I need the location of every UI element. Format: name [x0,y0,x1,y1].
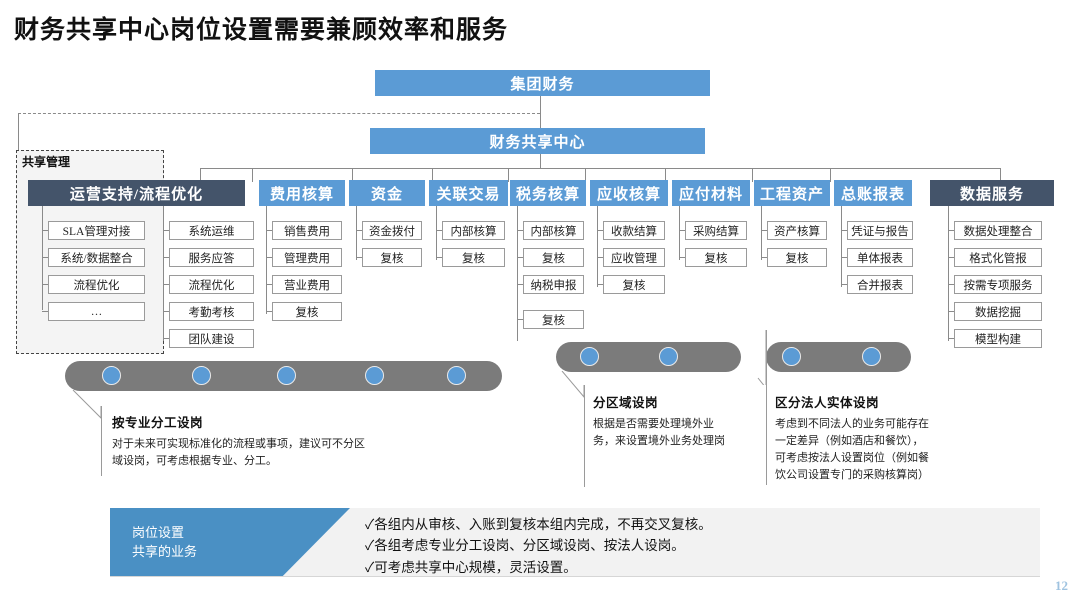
leaf-ellipsis[interactable]: … [48,302,145,321]
leaf-procurement-settlement[interactable]: 采购结算 [685,221,747,240]
tick-c10-5 [948,338,954,339]
tick-c10-4 [948,311,954,312]
connector-drop-2 [252,168,253,182]
column-header-related-party[interactable]: 关联交易 [429,180,508,206]
leaf-asset-accounting[interactable]: 资产核算 [767,221,827,240]
connector-root-to-level2 [540,96,541,128]
leaf-operating-expense[interactable]: 营业费用 [272,275,342,294]
tick-c1l-3 [42,284,48,285]
tick-c3-1 [356,230,362,231]
column-header-receivables[interactable]: 应收核算 [590,180,668,206]
callout-leader-3 [742,330,792,385]
tick-c8-1 [761,230,767,231]
pill-dot-3-2 [862,347,881,366]
leaf-voucher-report[interactable]: 凭证与报告 [847,221,913,240]
shared-management-group-label: 共享管理 [22,153,70,170]
spine-col9 [841,206,842,287]
node-group-finance[interactable]: 集团财务 [375,70,710,96]
tick-c4-2 [436,257,442,258]
tick-c1r-2 [163,257,169,258]
spine-col7 [679,206,680,260]
leaf-team-building[interactable]: 团队建设 [169,329,254,348]
tick-c6-2 [597,257,603,258]
leaf-internal-accounting-rp[interactable]: 内部核算 [442,221,505,240]
leaf-process-optimization[interactable]: 流程优化 [169,275,254,294]
column-header-treasury[interactable]: 资金 [349,180,425,206]
pill-dot-1-3 [277,366,296,385]
callout-rule-2 [584,385,585,487]
callout-title-2: 分区域设岗 [593,392,735,411]
summary-bullet-list: ✓各组内从审核、入账到复核本组内完成，不再交叉复核。 ✓各组考虑专业分工设岗、分… [365,514,1030,578]
summary-banner-rule [110,576,1040,577]
leaf-data-processing-integration[interactable]: 数据处理整合 [954,221,1042,240]
spine-col1-right [163,206,164,341]
leaf-admin-expense[interactable]: 管理费用 [272,248,342,267]
tick-c9-1 [841,230,847,231]
pill-dot-1-5 [447,366,466,385]
tick-c6-1 [597,230,603,231]
leaf-tax-review-2[interactable]: 复核 [523,310,584,329]
leaf-system-data-integration[interactable]: 系统/数据整合 [48,248,145,267]
leaf-tax-filing[interactable]: 纳税申报 [523,275,584,294]
tick-c7-1 [679,230,685,231]
leaf-system-ops[interactable]: 系统运维 [169,221,254,240]
column-header-expense-accounting[interactable]: 费用核算 [259,180,345,206]
leaf-sla-management[interactable]: SLA管理对接 [48,221,145,240]
pill-dot-2-2 [659,347,678,366]
summary-bullet-3: ✓可考虑共享中心规模，灵活设置。 [365,557,1030,578]
column-header-payables-materials[interactable]: 应付材料 [672,180,750,206]
summary-banner: 岗位设置 共享的业务 ✓各组内从审核、入账到复核本组内完成，不再交叉复核。 ✓各… [110,508,1040,576]
slide-canvas: 财务共享中心岗位设置需要兼顾效率和服务 共享管理 集团财务 财务共享中心 运营支… [0,0,1080,598]
tick-c2-1 [266,230,272,231]
connector-drop-9 [830,168,831,182]
pill-dot-1-2 [192,366,211,385]
tick-c9-3 [841,284,847,285]
leaf-fund-disbursement[interactable]: 资金拨付 [362,221,422,240]
leaf-standalone-statement[interactable]: 单体报表 [847,248,913,267]
tick-c7-2 [679,257,685,258]
leaf-on-demand-services[interactable]: 按需专项服务 [954,275,1042,294]
tick-c10-1 [948,230,954,231]
spine-col10 [948,206,949,341]
tick-c10-2 [948,257,954,258]
tick-c1l-1 [42,230,48,231]
leaf-expense-review[interactable]: 复核 [272,302,342,321]
spine-col2 [266,206,267,314]
leaf-tax-review-1[interactable]: 复核 [523,248,584,267]
column-header-gl-reporting[interactable]: 总账报表 [834,180,912,206]
tick-c3-2 [356,257,362,258]
connector-level2-drop [540,154,541,168]
spine-col6 [597,206,598,287]
connector-dashed-left [18,113,540,114]
pill-dot-1-4 [365,366,384,385]
spine-col3 [356,206,357,260]
callout-rule-3 [766,330,767,485]
tick-c5-1 [517,230,523,231]
tick-c5-4 [517,319,523,320]
summary-bullet-2: ✓各组考虑专业分工设岗、分区域设岗、按法人设岗。 [365,535,1030,556]
tick-c5-3 [517,284,523,285]
leaf-related-party-review[interactable]: 复核 [442,248,505,267]
tick-c4-1 [436,230,442,231]
leaf-sales-expense[interactable]: 销售费用 [272,221,342,240]
leaf-process-optimization-left[interactable]: 流程优化 [48,275,145,294]
summary-tag-line1: 岗位设置 [132,523,350,543]
summary-bullet-1: ✓各组内从审核、入账到复核本组内完成，不再交叉复核。 [365,514,1030,535]
page-number: 12 [1055,578,1068,594]
leaf-receivables-management[interactable]: 应收管理 [603,248,665,267]
callout-body-2: 根据是否需要处理境外业务，来设置境外业务处理岗 [593,416,735,450]
tick-c2-2 [266,257,272,258]
column-header-operations-support[interactable]: 运营支持/流程优化 [28,180,245,206]
callout-regional-division: 分区域设岗 根据是否需要处理境外业务，来设置境外业务处理岗 [593,392,735,450]
page-title: 财务共享中心岗位设置需要兼顾效率和服务 [14,10,508,46]
callout-title-3: 区分法人实体设岗 [775,392,930,411]
leaf-service-response[interactable]: 服务应答 [169,248,254,267]
tick-c2-3 [266,284,272,285]
leaf-collection-settlement[interactable]: 收款结算 [603,221,665,240]
leaf-consolidated-statement[interactable]: 合并报表 [847,275,913,294]
callout-body-3: 考虑到不同法人的业务可能存在一定差异（例如酒店和餐饮），可考虑按法人设置岗位（例… [775,416,930,484]
pill-dot-2-1 [580,347,599,366]
column-header-tax-accounting[interactable]: 税务核算 [510,180,586,206]
leaf-receivables-review[interactable]: 复核 [603,275,665,294]
connector-drop-5 [508,168,509,182]
leaf-internal-accounting-tax[interactable]: 内部核算 [523,221,584,240]
tick-c10-3 [948,284,954,285]
tick-c1r-1 [163,230,169,231]
tick-c1r-5 [163,338,169,339]
spine-col1-left [42,206,43,310]
spine-col4 [436,206,437,260]
tick-c5-2 [517,257,523,258]
spine-col5 [517,206,518,341]
callout-title-1: 按专业分工设岗 [112,412,370,431]
tick-c1l-2 [42,257,48,258]
connector-drop-8 [752,168,753,182]
tick-c1r-3 [163,284,169,285]
column-header-construction-assets[interactable]: 工程资产 [754,180,830,206]
summary-tag-line2: 共享的业务 [132,542,350,562]
callout-rule-1 [101,406,102,476]
tick-c1r-4 [163,311,169,312]
callout-legal-entity-division: 区分法人实体设岗 考虑到不同法人的业务可能存在一定差异（例如酒店和餐饮），可考虑… [775,392,930,484]
leaf-asset-review[interactable]: 复核 [767,248,827,267]
spine-col8 [761,206,762,260]
leaf-data-mining[interactable]: 数据挖掘 [954,302,1042,321]
tick-c6-3 [597,284,603,285]
leaf-payables-review[interactable]: 复核 [685,248,747,267]
column-header-data-services[interactable]: 数据服务 [930,180,1054,206]
tick-c1l-4 [42,311,48,312]
tick-c2-4 [266,311,272,312]
leaf-attendance-appraisal[interactable]: 考勤考核 [169,302,254,321]
leaf-formatted-reporting[interactable]: 格式化管报 [954,248,1042,267]
connector-horizontal-bus [200,168,1000,169]
leaf-model-building[interactable]: 模型构建 [954,329,1042,348]
callout-body-1: 对于未来可实现标准化的流程或事项，建议可不分区域设岗，可考虑根据专业、分工。 [112,436,370,470]
node-fssc[interactable]: 财务共享中心 [370,128,705,154]
tick-c8-2 [761,257,767,258]
summary-banner-tag: 岗位设置 共享的业务 [110,508,350,576]
tick-c9-2 [841,257,847,258]
callout-professional-division: 按专业分工设岗 对于未来可实现标准化的流程或事项，建议可不分区域设岗，可考虑根据… [112,412,370,470]
connector-dashed-drop [18,113,19,150]
leaf-treasury-review[interactable]: 复核 [362,248,422,267]
pill-dot-1-1 [102,366,121,385]
